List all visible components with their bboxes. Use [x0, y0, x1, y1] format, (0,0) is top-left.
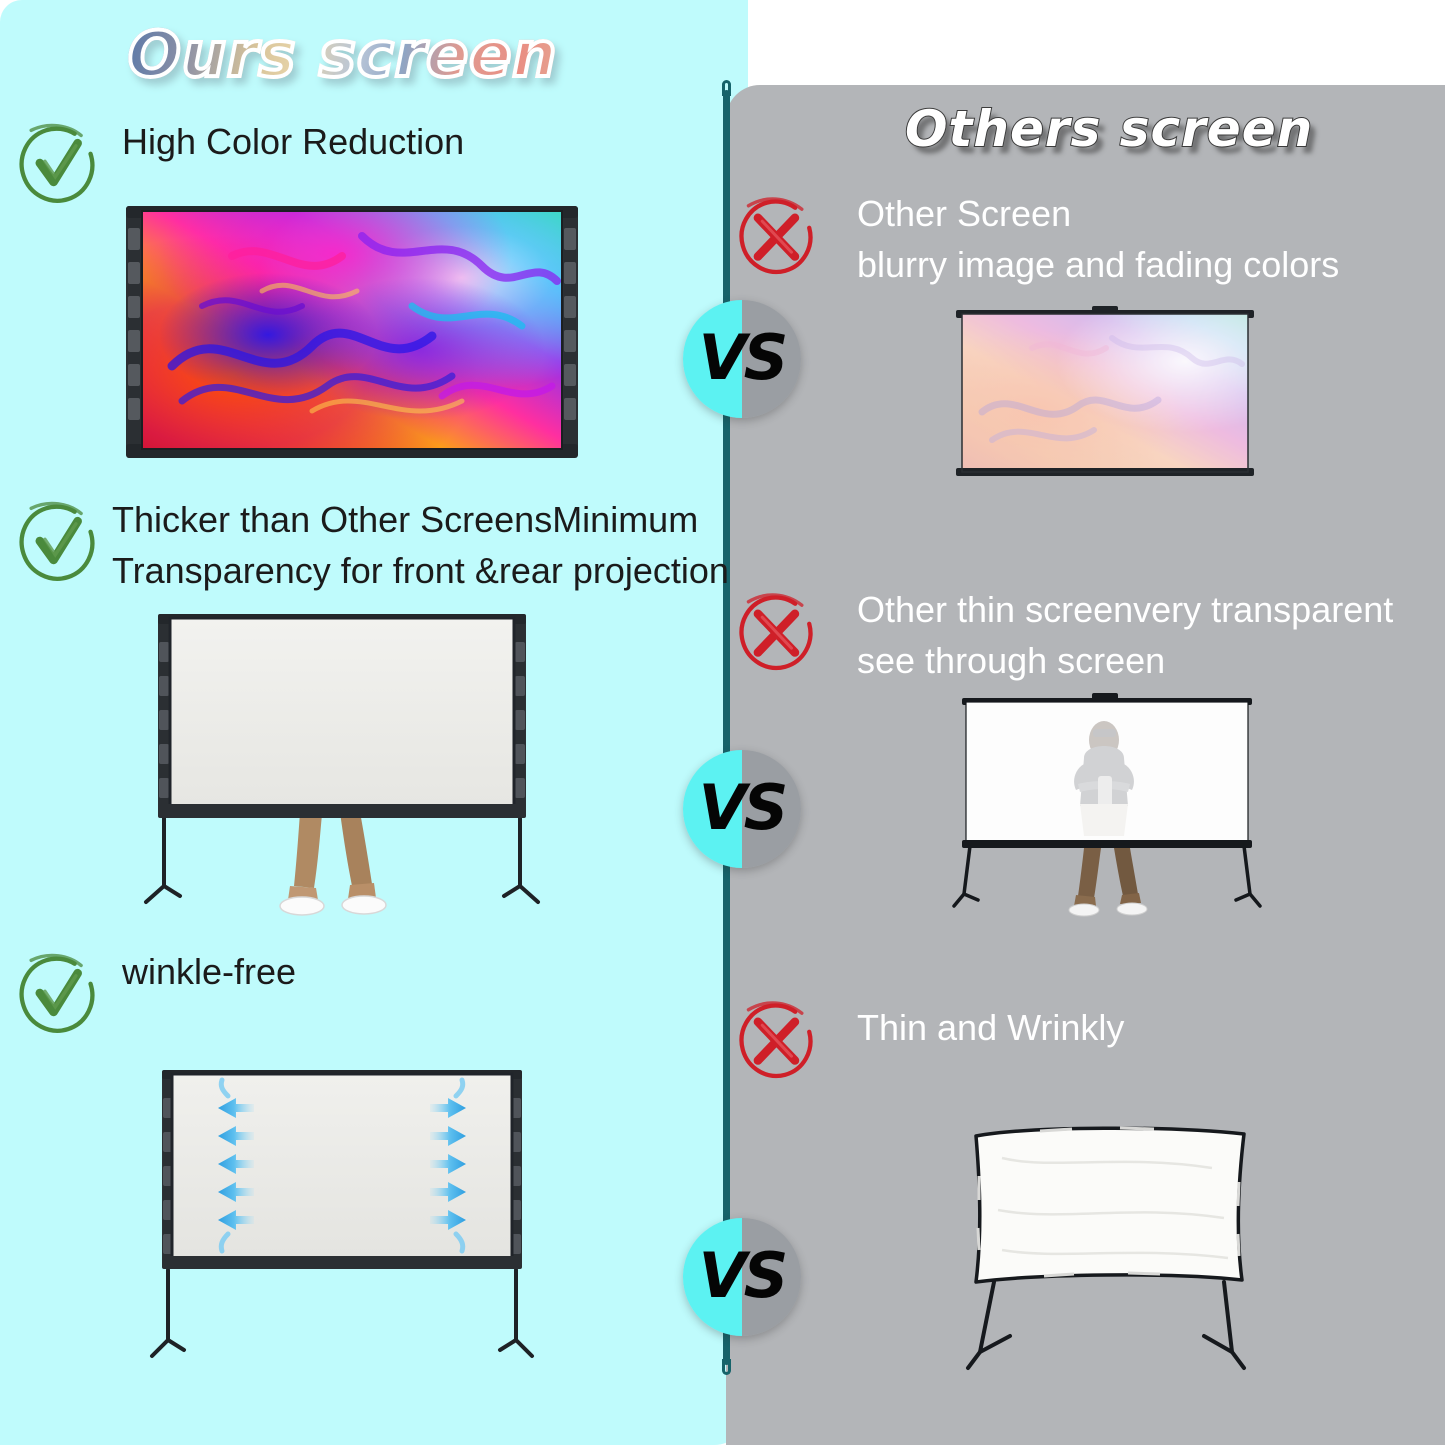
others-screen-wrinkly [932, 1124, 1272, 1386]
others-screen-faded [952, 302, 1258, 490]
ours-feature-2-text: Thicker than Other ScreensMinimum Transp… [112, 494, 729, 596]
green-check-icon [14, 950, 100, 1036]
red-cross-icon [733, 588, 819, 674]
others-panel-title: Others screen [905, 100, 1313, 158]
red-cross-icon [733, 996, 819, 1082]
vs-badge-1: VS [683, 300, 801, 418]
green-check-icon [14, 498, 100, 584]
vs-badge-label: VS [683, 1218, 801, 1336]
vs-badge-label: VS [683, 300, 801, 418]
ours-feature-1-text: High Color Reduction [122, 116, 464, 167]
others-screen-seethrough [952, 684, 1262, 920]
ours-panel-title: Ours screen [128, 18, 628, 91]
red-cross-icon [733, 192, 819, 278]
others-feature-2-text: Other thin screenvery transparent see th… [857, 584, 1393, 686]
ours-screen-taut [142, 1058, 542, 1388]
ours-feature-3-text: winkle-free [122, 946, 296, 997]
vs-badge-label: VS [683, 750, 801, 868]
ours-screen-vivid [112, 196, 592, 486]
others-feature-3-text: Thin and Wrinkly [857, 1002, 1124, 1053]
panel-divider [723, 90, 730, 1365]
comparison-infographic: Ours screen Others screen High Color Red… [0, 0, 1445, 1445]
others-feature-1-text: Other Screen blurry image and fading col… [857, 188, 1339, 290]
green-check-icon [14, 120, 100, 206]
vs-badge-3: VS [683, 1218, 801, 1336]
ours-screen-opaque [132, 604, 552, 924]
vs-badge-2: VS [683, 750, 801, 868]
